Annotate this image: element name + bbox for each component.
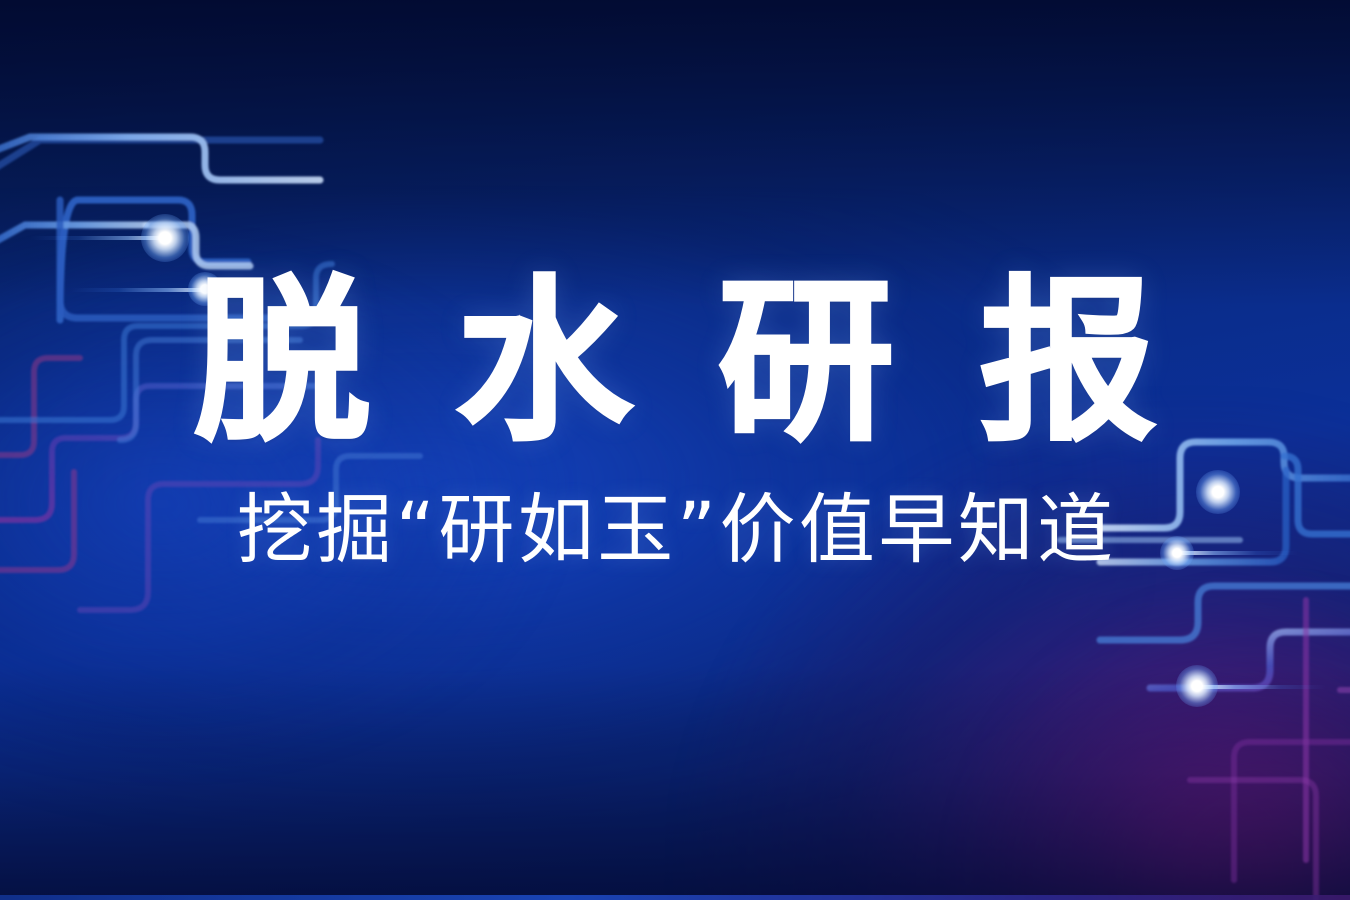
- background-bottom-vignette: [0, 666, 1350, 900]
- bottom-edge-accent-line: [0, 895, 1350, 900]
- dehydrated-research-report-banner: 脱 水 研 报 挖掘“研如玉”价值早知道: [0, 0, 1350, 900]
- headline-group: 脱 水 研 报 挖掘“研如玉”价值早知道: [0, 270, 1350, 574]
- page-subtitle: 挖掘“研如玉”价值早知道: [0, 485, 1350, 575]
- page-title: 脱 水 研 报: [0, 270, 1350, 457]
